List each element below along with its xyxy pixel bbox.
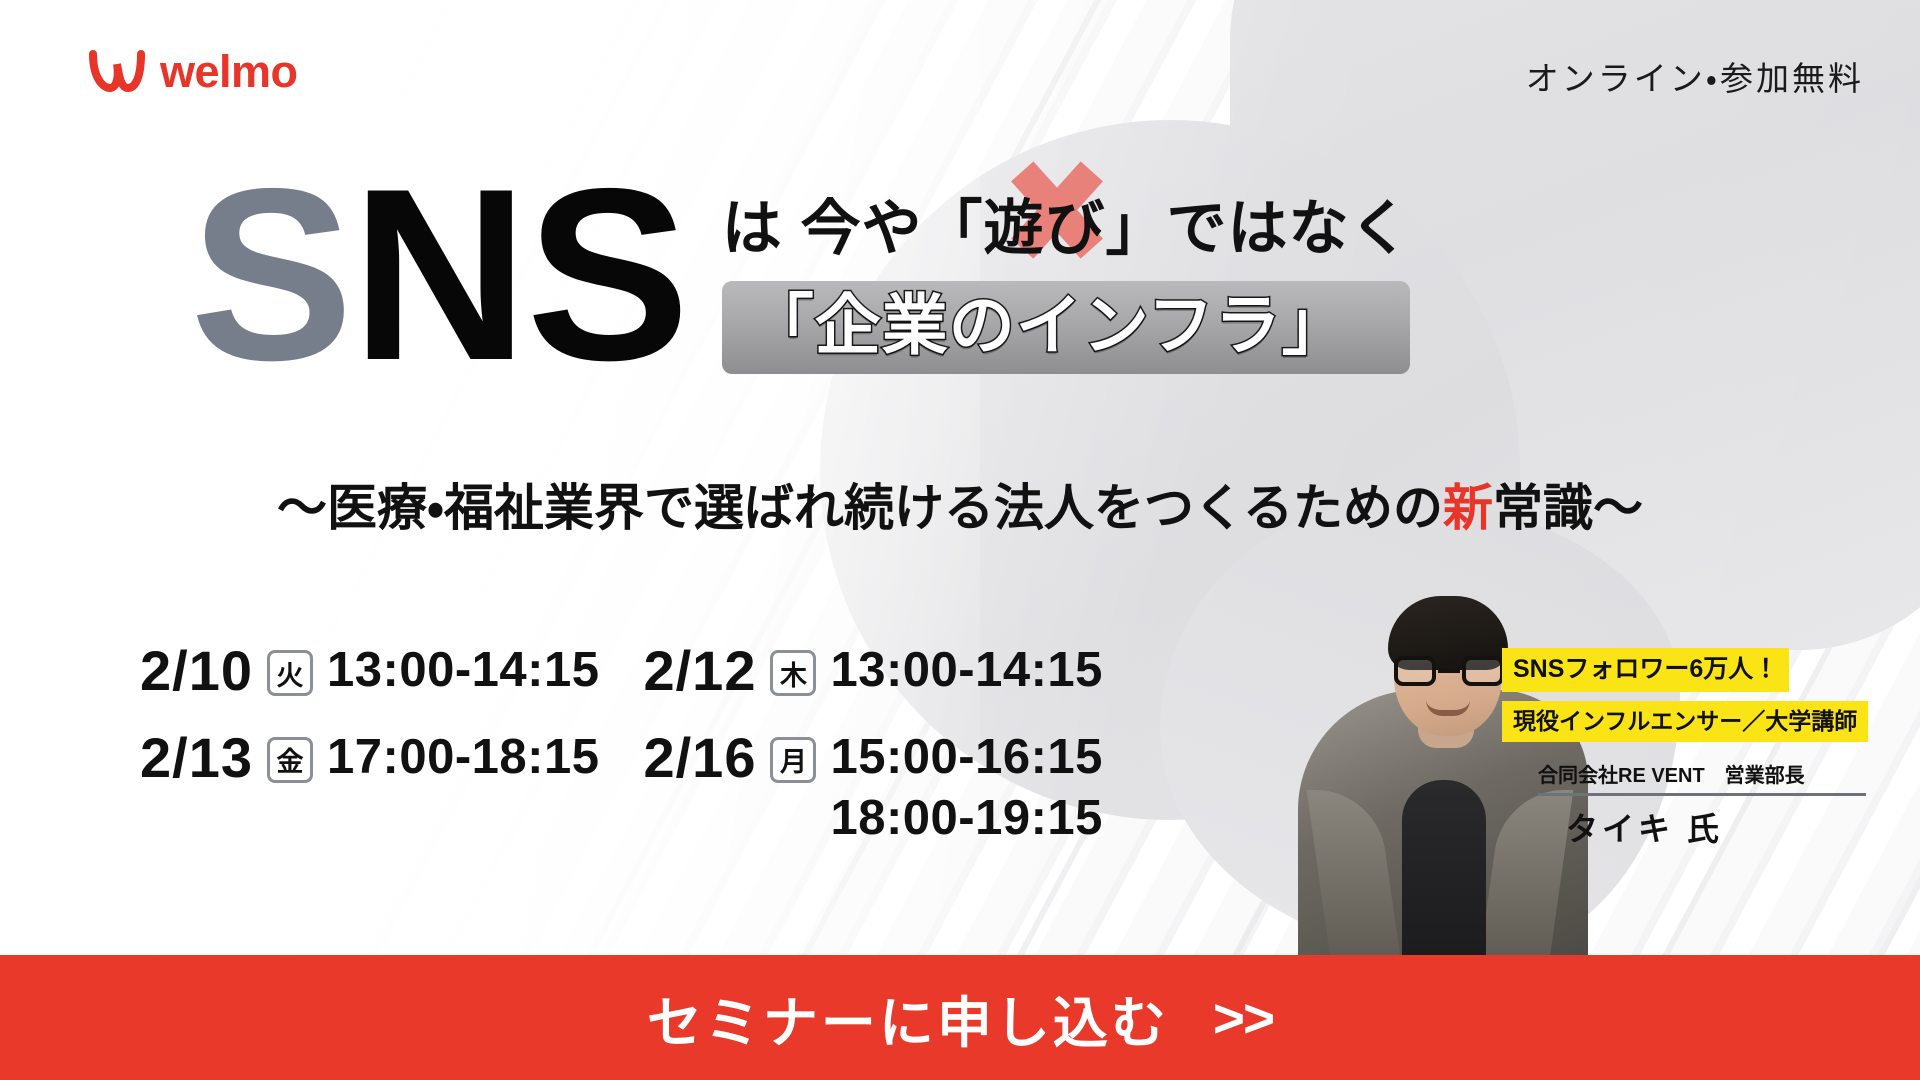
subtitle-highlight: 新: [1443, 480, 1493, 536]
schedule-date: 2/12: [643, 640, 756, 703]
schedule-time: 18:00-19:15: [830, 788, 1102, 849]
infra-emphasis-box: 「企業のインフラ」: [722, 281, 1411, 374]
schedule-times: 13:00-14:15: [327, 640, 599, 701]
speaker-shirt: [1402, 780, 1486, 980]
schedule-date: 2/16: [643, 727, 756, 790]
sns-letters-ns-black: NS: [351, 137, 687, 411]
schedule-row: 2/13 金 17:00-18:15 2/16 月 15:00-16:15 18…: [140, 727, 1103, 850]
subtitle-after: 常識〜: [1493, 480, 1643, 536]
schedule-item[interactable]: 2/16 月 15:00-16:15 18:00-19:15: [643, 727, 1102, 850]
speaker-role-badge: 現役インフルエンサー／大学講師: [1502, 701, 1868, 742]
headline-block: SNS は 今や「遊び」ではなく 「企業のインフラ」: [0, 150, 1920, 380]
schedule-time: 15:00-16:15: [830, 727, 1102, 788]
headline-right-column: は 今や「遊び」ではなく 「企業のインフラ」: [722, 180, 1411, 374]
speaker-glasses-icon: [1394, 656, 1504, 686]
schedule-date: 2/13: [140, 727, 253, 790]
schedule-times: 13:00-14:15: [830, 640, 1102, 701]
speaker-info-block: SNSフォロワー6万人！ 現役インフルエンサー／大学講師 合同会社RE VENT…: [1502, 648, 1902, 850]
subtitle-before: 〜医療・福祉業界で選ばれ続ける法人をつくるための: [277, 480, 1443, 536]
speaker-name: タイキ 氏: [1566, 804, 1902, 850]
schedule-date: 2/10: [140, 640, 253, 703]
welmo-w-mark-icon: [88, 48, 146, 94]
sns-wordmark: SNS: [190, 169, 688, 380]
speaker-divider: [1538, 793, 1866, 796]
schedule-time: 13:00-14:15: [327, 640, 599, 701]
schedule-day-badge: 火: [267, 650, 313, 696]
schedule-day-badge: 木: [770, 650, 816, 696]
speaker-company-title: 合同会社RE VENT 営業部長: [1538, 759, 1902, 788]
subtitle-line: 〜医療・福祉業界で選ばれ続ける法人をつくるための新常識〜: [0, 468, 1920, 540]
sns-letter-s-gray: S: [190, 137, 351, 411]
schedule-day-badge: 金: [267, 737, 313, 783]
schedule-item[interactable]: 2/13 金 17:00-18:15: [140, 727, 599, 790]
schedule-item[interactable]: 2/10 火 13:00-14:15: [140, 640, 599, 703]
schedule-times: 17:00-18:15: [327, 727, 599, 788]
welmo-logo[interactable]: welmo: [88, 48, 298, 94]
cta-label: セミナーに申し込む: [647, 978, 1169, 1058]
speaker-followers-badge: SNSフォロワー6万人！: [1502, 648, 1789, 692]
seminar-banner: welmo オンライン・参加無料 SNS は 今や「遊び」ではなく 「企業のイン…: [0, 0, 1920, 1080]
welmo-logo-text: welmo: [160, 49, 298, 94]
schedule-times: 15:00-16:15 18:00-19:15: [830, 727, 1102, 850]
schedule-item[interactable]: 2/12 木 13:00-14:15: [643, 640, 1102, 703]
schedule-row: 2/10 火 13:00-14:15 2/12 木 13:00-14:15: [140, 640, 1103, 703]
cta-chevron-right-icon: >>: [1213, 986, 1273, 1050]
infra-emphasis-text: 「企業のインフラ」: [748, 288, 1349, 362]
headline-line1-before: は 今や「: [722, 195, 984, 262]
schedule-time: 17:00-18:15: [327, 727, 599, 788]
headline-line1-after: 」ではなく: [1105, 195, 1410, 262]
schedule-time: 13:00-14:15: [830, 640, 1102, 701]
schedule-list: 2/10 火 13:00-14:15 2/12 木 13:00-14:15 2/…: [140, 640, 1103, 849]
crossed-word-text: 遊び: [983, 195, 1105, 262]
schedule-day-badge: 月: [770, 737, 816, 783]
apply-seminar-cta-button[interactable]: セミナーに申し込む >>: [0, 955, 1920, 1080]
online-free-label: オンライン・参加無料: [1526, 52, 1864, 100]
headline-line-1: は 今や「遊び」ではなく: [722, 180, 1411, 275]
crossed-word: 遊び: [983, 180, 1105, 267]
